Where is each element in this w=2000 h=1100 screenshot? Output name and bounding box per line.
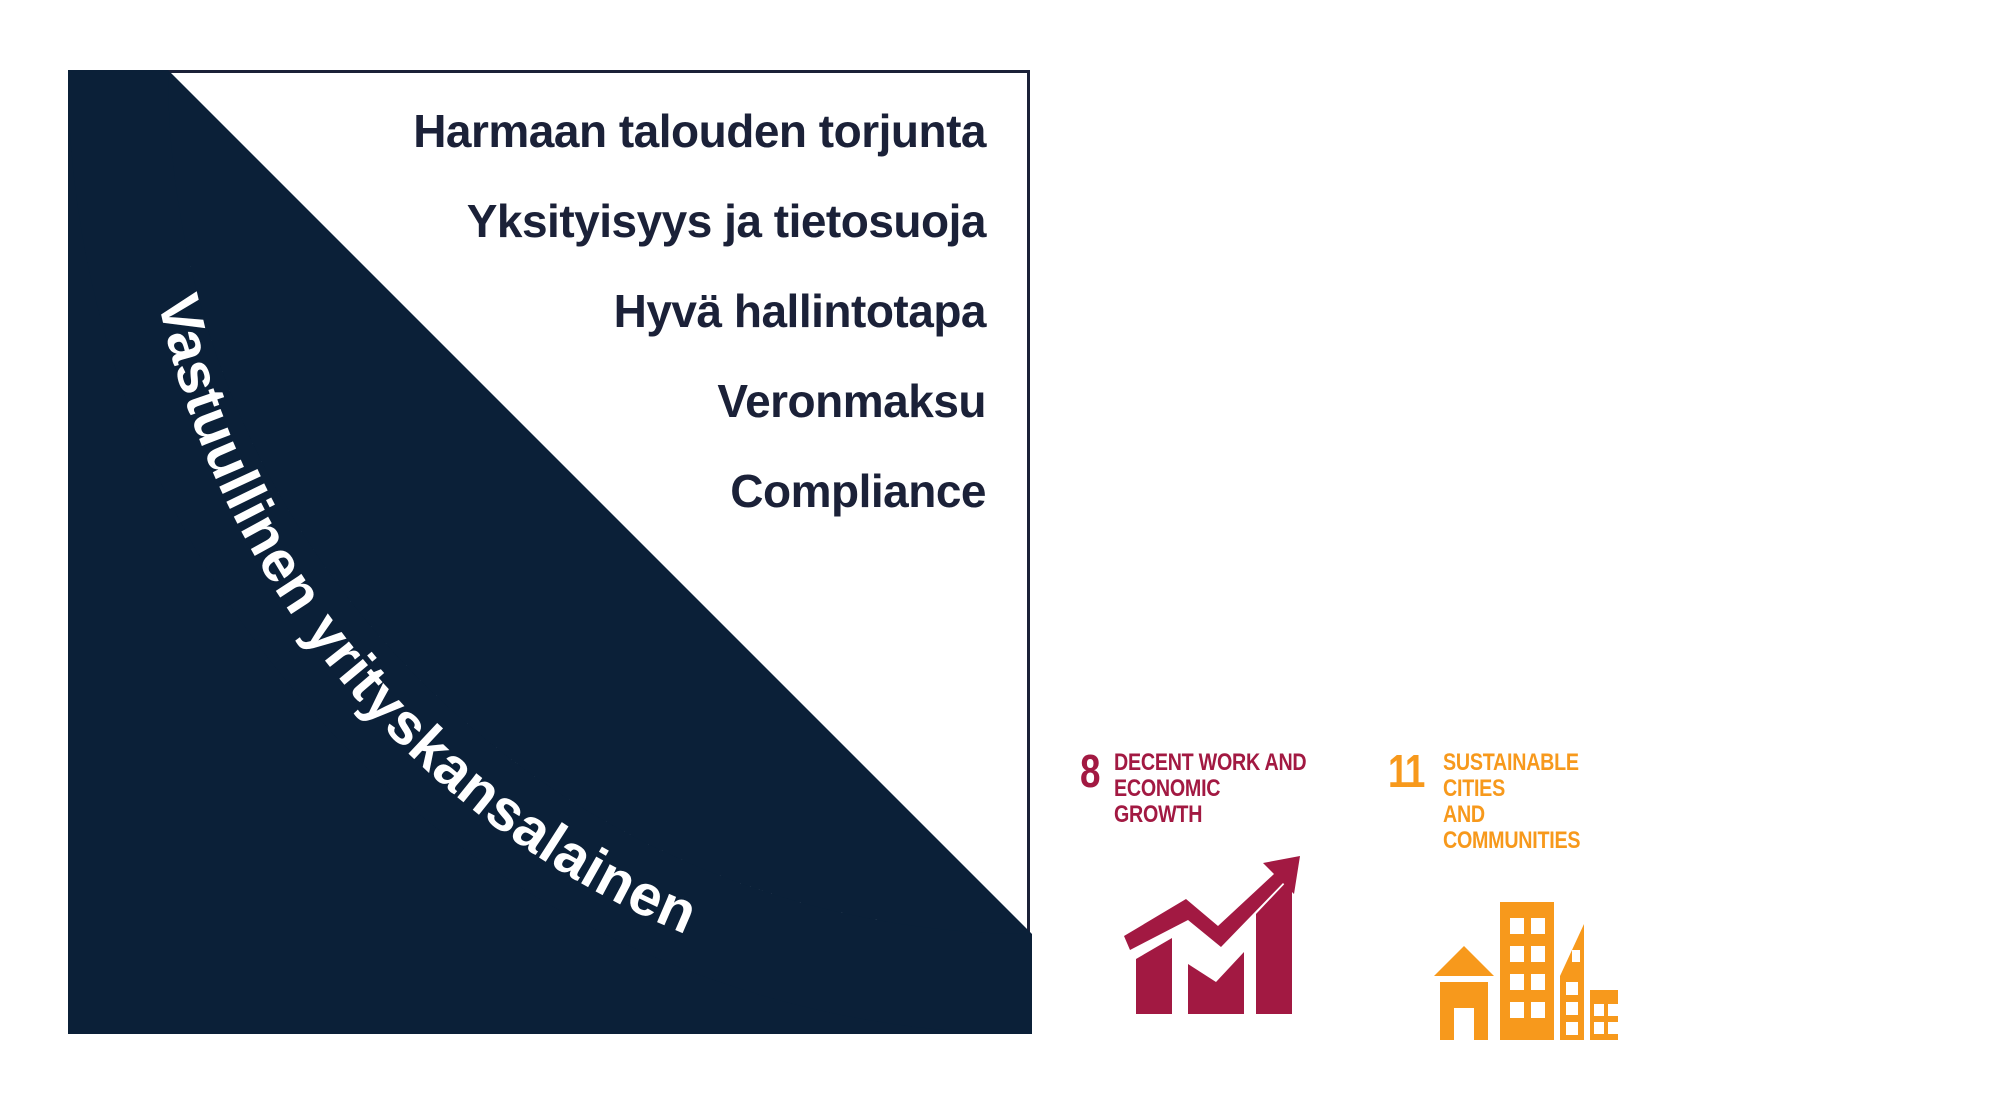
sdg-badge-11: 11 SUSTAINABLE CITIES AND COMMUNITIES (1388, 750, 1658, 1051)
theme-item-label: Yksityisyys ja tietosuoja (467, 198, 986, 244)
theme-item-0: Harmaan talouden torjunta (200, 86, 986, 176)
theme-item-3: Veronmaksu (200, 356, 986, 446)
theme-item-label: Harmaan talouden torjunta (413, 108, 986, 154)
city-buildings-icon (1432, 880, 1618, 1051)
theme-item-label: Veronmaksu (717, 378, 986, 424)
theme-item-label: Hyvä hallintotapa (614, 288, 986, 334)
sdg-11-number: 11 (1388, 750, 1424, 792)
growth-chart-arrow-icon (1124, 854, 1300, 1025)
theme-item-4: Compliance (200, 446, 986, 536)
sdg-8-header: 8 DECENT WORK AND ECONOMIC GROWTH (1080, 750, 1350, 828)
sdg-badge-8: 8 DECENT WORK AND ECONOMIC GROWTH (1080, 750, 1350, 1025)
theme-item-1: Yksityisyys ja tietosuoja (200, 176, 986, 266)
sdg-badge-row: 8 DECENT WORK AND ECONOMIC GROWTH 11 (1080, 750, 1658, 1051)
sdg-8-number: 8 (1080, 750, 1099, 792)
sdg-11-header: 11 SUSTAINABLE CITIES AND COMMUNITIES (1388, 750, 1658, 854)
theme-list: Harmaan talouden torjunta Yksityisyys ja… (200, 86, 986, 536)
sdg-8-title: DECENT WORK AND ECONOMIC GROWTH (1114, 750, 1308, 828)
slide-canvas: Vastuullinen yrityskansalainen Harmaan t… (0, 0, 2000, 1100)
theme-item-2: Hyvä hallintotapa (200, 266, 986, 356)
sdg-11-title: SUSTAINABLE CITIES AND COMMUNITIES (1443, 750, 1620, 854)
theme-item-label: Compliance (730, 468, 986, 514)
